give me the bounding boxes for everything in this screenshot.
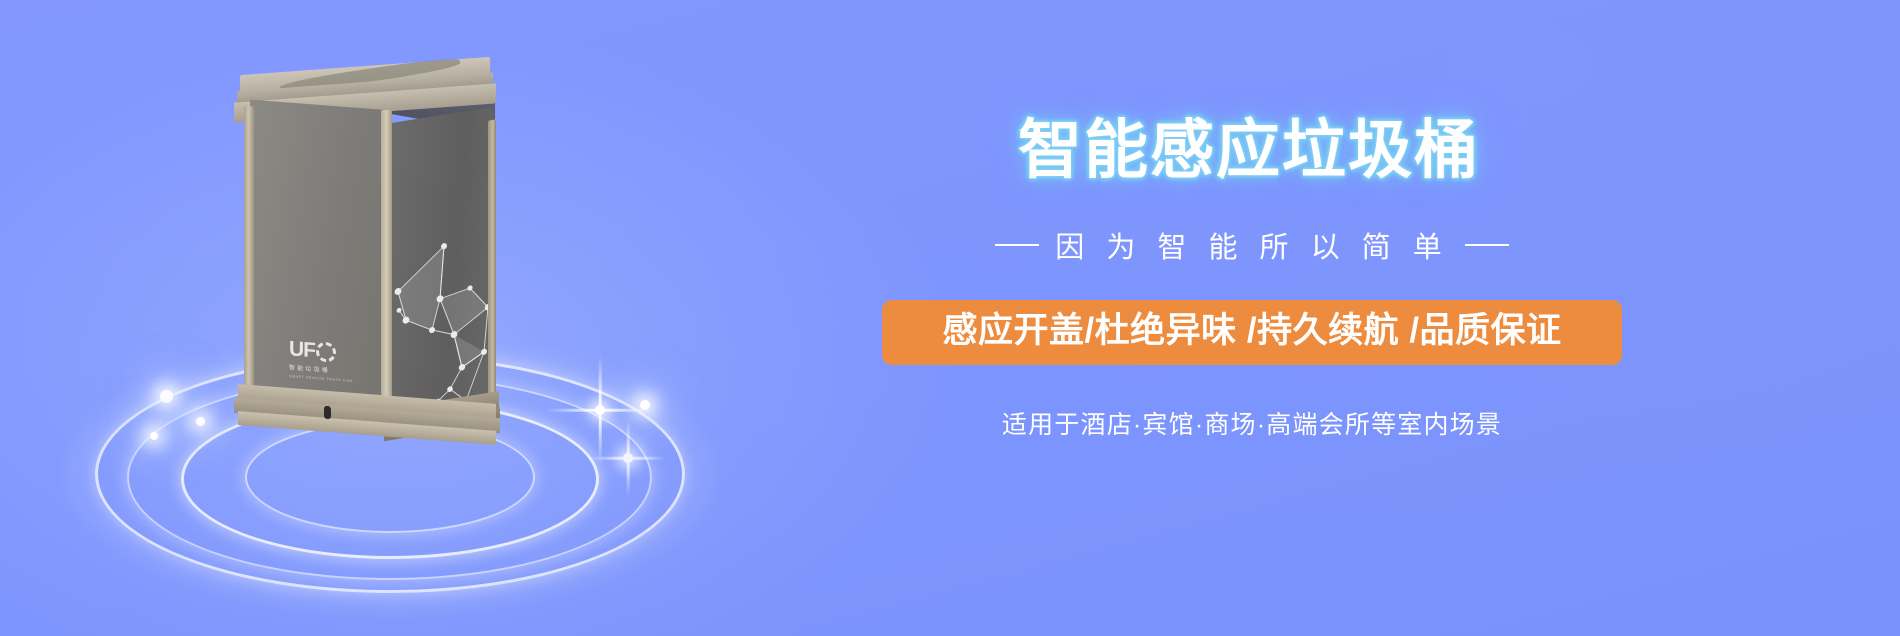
glow-dot-icon <box>160 390 173 403</box>
glow-dot-icon <box>150 432 158 440</box>
product-image-trash-can: UF 智能垃圾桶 SMART SENSOR TRASH CAN <box>232 60 502 430</box>
ufo-logo-icon: UF <box>289 337 361 365</box>
banner-copy-block: 智能感应垃圾桶 因 为 智 能 所 以 简 单 感应开盖/杜绝异味 /持久续航 … <box>882 118 1622 441</box>
corner-trim-right <box>488 119 496 410</box>
dash-left-icon <box>995 244 1039 246</box>
feature-highlight-bar: 感应开盖/杜绝异味 /持久续航 /品质保证 <box>882 300 1622 365</box>
banner-subtitle-text: 因 为 智 能 所 以 简 单 <box>1055 224 1448 266</box>
banner-headline: 智能感应垃圾桶 <box>882 118 1622 182</box>
corner-trim-left <box>244 106 254 413</box>
usage-scene-text: 适用于酒店·宾馆·商场·高端会所等室内场景 <box>882 405 1622 441</box>
sensor-port-icon <box>324 406 331 420</box>
dash-right-icon <box>1465 244 1509 246</box>
corner-trim-center <box>381 110 392 418</box>
product-promo-banner: UF 智能垃圾桶 SMART SENSOR TRASH CAN 智能感应垃圾桶 … <box>0 0 1900 636</box>
glow-dot-icon <box>640 400 650 410</box>
brand-logo: UF 智能垃圾桶 SMART SENSOR TRASH CAN <box>289 337 361 384</box>
product-stage: UF 智能垃圾桶 SMART SENSOR TRASH CAN <box>0 0 860 636</box>
feature-highlight-text: 感应开盖/杜绝异味 /持久续航 /品质保证 <box>904 313 1600 350</box>
banner-subtitle: 因 为 智 能 所 以 简 单 <box>882 224 1622 266</box>
glow-dot-icon <box>196 417 205 426</box>
brand-logo-letters: UF <box>289 338 315 361</box>
logo-ring-icon <box>316 341 336 363</box>
